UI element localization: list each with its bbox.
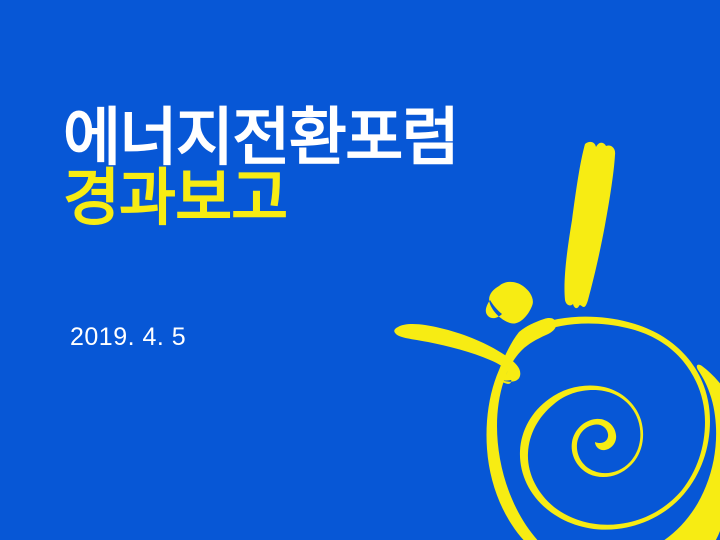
ray-long-icon	[394, 324, 520, 384]
title-slide: 에너지전환포럼 경과보고 2019. 4. 5	[0, 0, 720, 540]
presentation-date: 2019. 4. 5	[70, 323, 186, 352]
page-title-line-2: 경과보고	[63, 169, 483, 229]
spiral-icon	[520, 317, 710, 530]
ray-vertical-icon	[564, 142, 615, 308]
title-text-block: 에너지전환포럼 경과보고	[63, 108, 483, 229]
spiral-outer-arc-icon	[654, 365, 720, 540]
page-title-line-1: 에너지전환포럼	[63, 108, 483, 169]
ray-stub-icon	[486, 282, 533, 324]
spiral-tail-icon	[487, 318, 557, 540]
